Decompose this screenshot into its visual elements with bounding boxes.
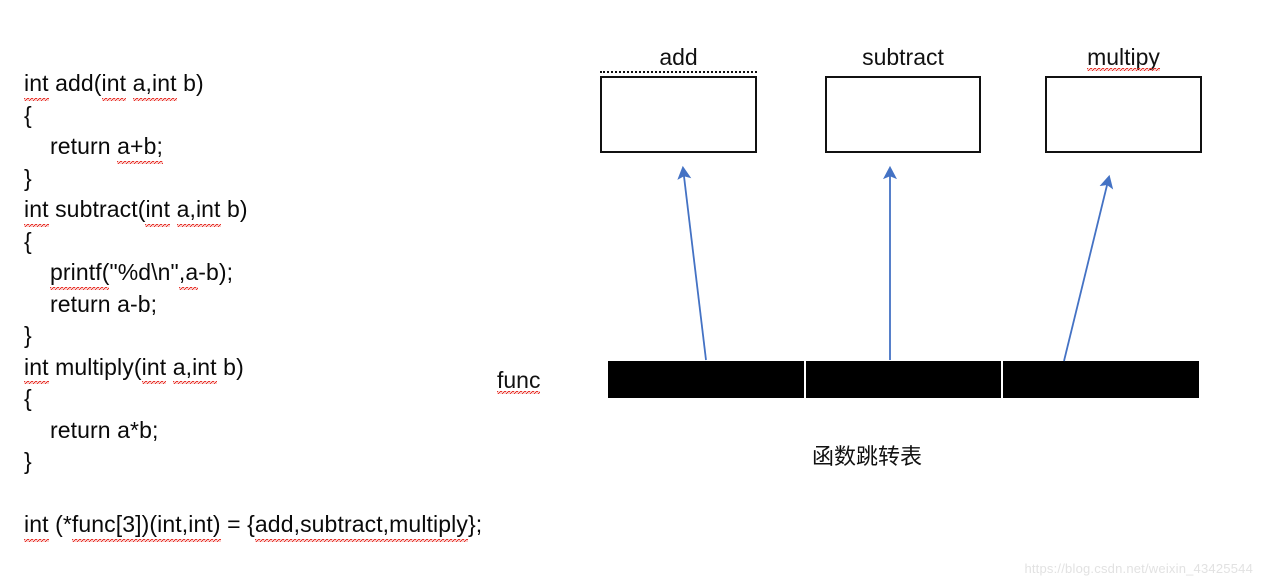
spellcheck-word: multipy — [1087, 44, 1160, 70]
jump-table-cell-0[interactable] — [608, 361, 806, 398]
function-box-subtract — [825, 76, 981, 153]
function-box-add — [600, 76, 757, 153]
spellcheck-word: func — [497, 367, 540, 393]
jump-table-row-label: func — [497, 367, 540, 393]
watermark: https://blog.csdn.net/weixin_43425544 — [1024, 561, 1253, 576]
slide-canvas: int add(int a,int b)int add(int a,int b)… — [0, 0, 1261, 582]
diagram-caption: 函数跳转表 — [812, 443, 922, 473]
arrow-cell0-to-add — [683, 168, 706, 360]
jump-table-row — [608, 361, 1199, 398]
function-box-label-add: add — [600, 44, 757, 73]
function-box-multipy — [1045, 76, 1202, 153]
function-box-label-multipy: multipy — [1045, 44, 1202, 70]
arrow-cell2-to-multiply — [1064, 177, 1109, 361]
jump-table-cell-2[interactable] — [1003, 361, 1199, 398]
function-box-label-subtract: subtract — [825, 44, 981, 70]
jump-table-cell-1[interactable] — [806, 361, 1004, 398]
jump-table-diagram: add subtract multipy func — [0, 0, 1261, 582]
